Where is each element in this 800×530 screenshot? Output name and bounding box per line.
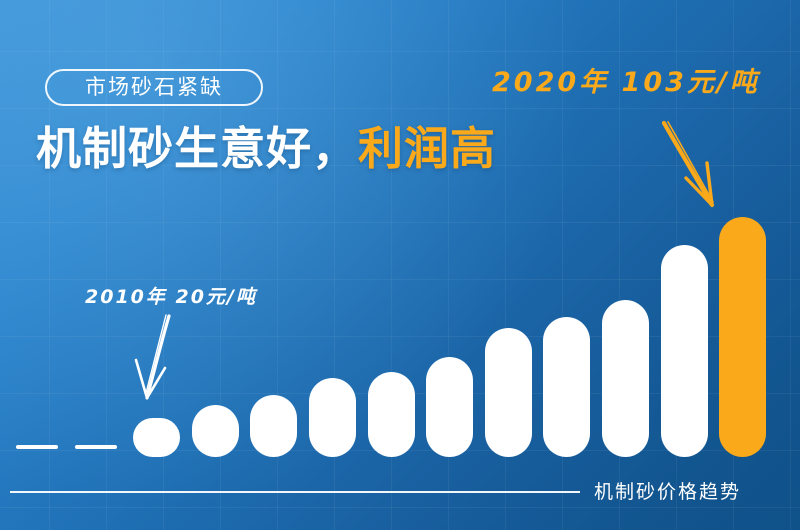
chart-caption: 机制砂价格趋势 [594, 477, 741, 504]
badge-label: 市场砂石紧缺 [85, 77, 223, 98]
bar-stub [16, 445, 58, 449]
annotation-2020: 2020年 103元/吨 [492, 60, 760, 99]
arrow-down-left-icon [125, 310, 195, 410]
baseline-rule [10, 491, 580, 493]
bar [309, 378, 356, 457]
bar [192, 405, 239, 457]
badge-market-shortage: 市场砂石紧缺 [45, 69, 263, 106]
bar [543, 317, 590, 457]
bar [368, 372, 415, 457]
arrow-down-right-icon [650, 95, 740, 220]
bar [250, 395, 297, 457]
page-title: 机制砂生意好，利润高 [36, 126, 496, 171]
infographic-poster: 市场砂石紧缺 机制砂生意好，利润高 2010年 20元/吨 2020年 103元… [0, 0, 800, 530]
bar [602, 300, 649, 457]
bar [426, 357, 473, 457]
bar [485, 328, 532, 457]
headline-accent: 利润高 [358, 123, 496, 174]
bar [661, 245, 708, 457]
bar-stub [75, 445, 117, 449]
headline-primary: 机制砂生意好， [36, 123, 358, 174]
bar-highlighted [719, 217, 766, 457]
annotation-2010: 2010年 20元/吨 [85, 282, 257, 309]
bar [133, 418, 180, 457]
